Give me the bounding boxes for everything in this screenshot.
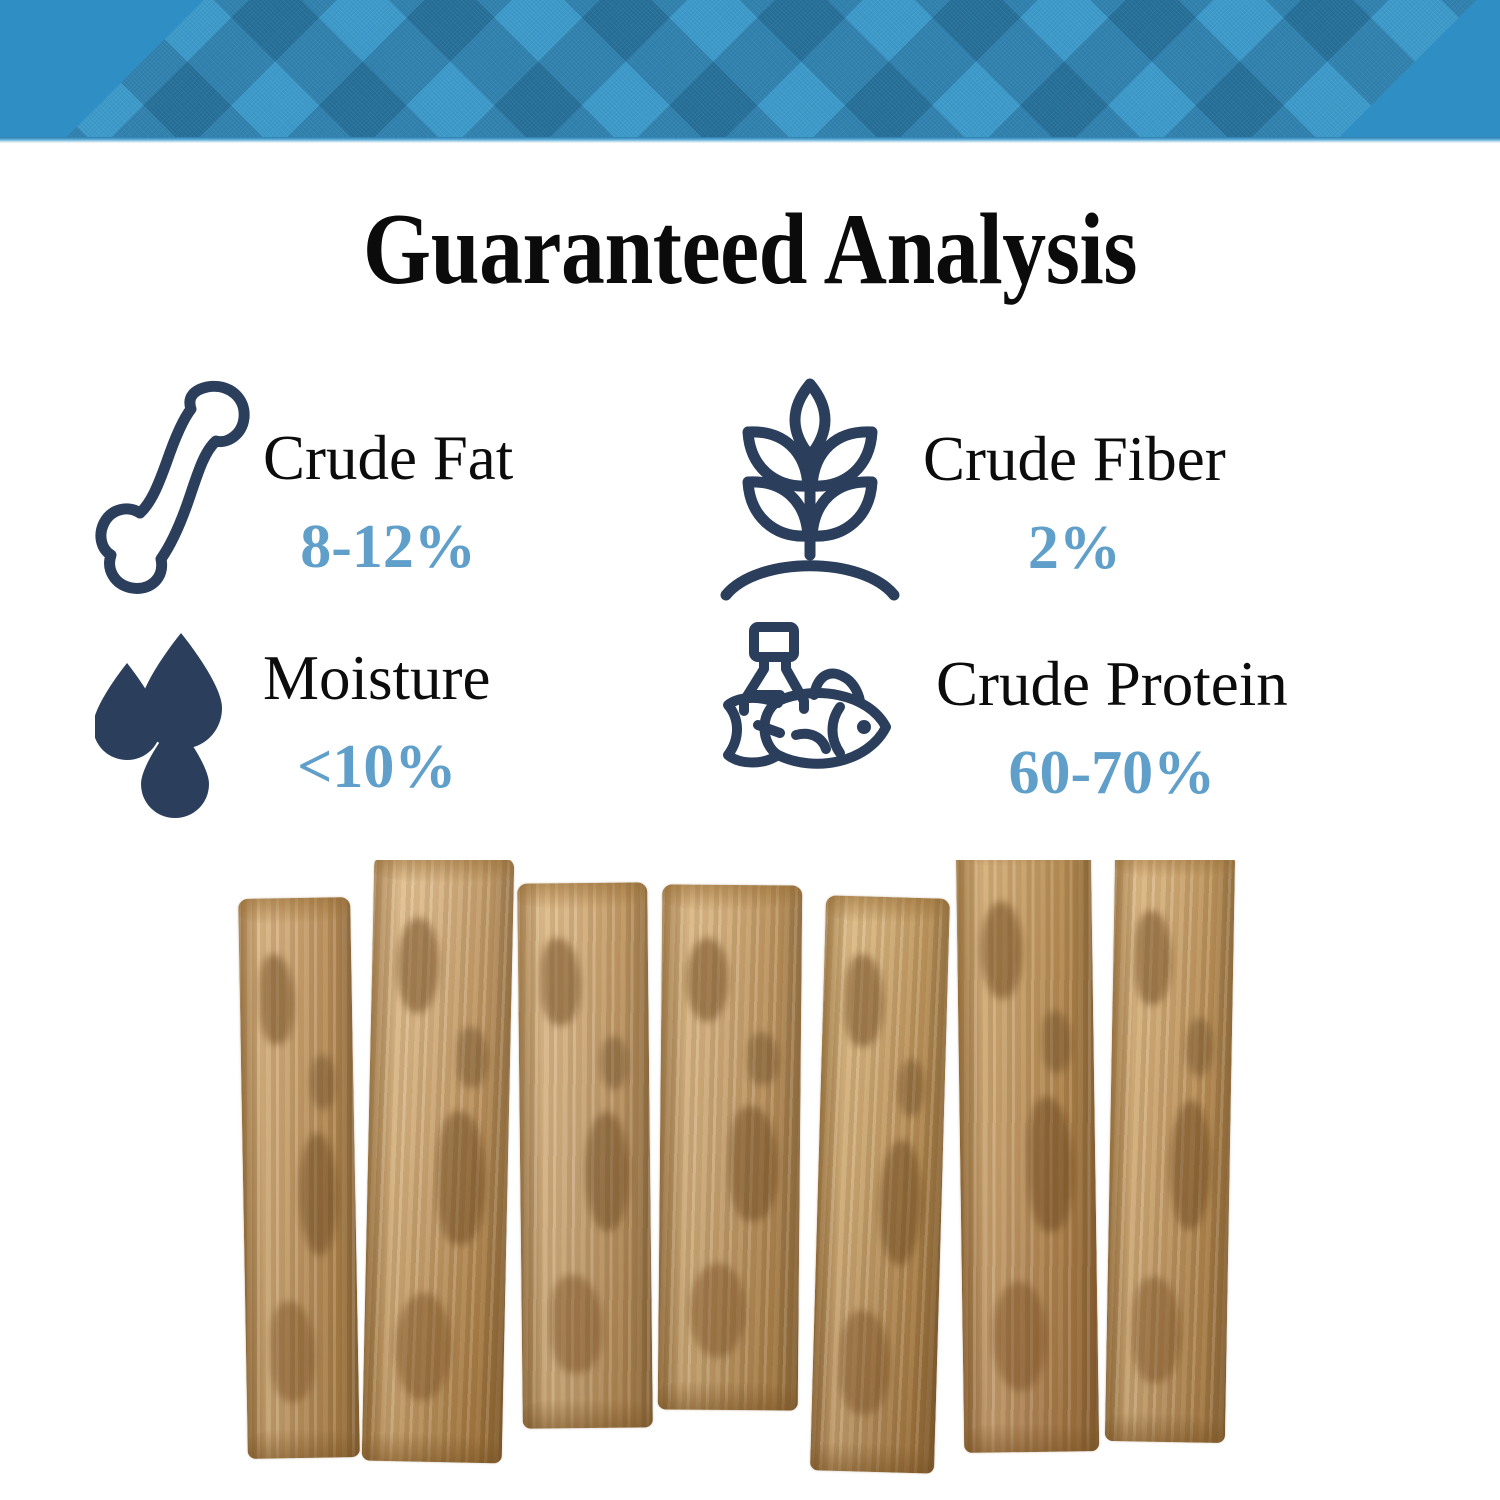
chew-stick-bottom-cap — [362, 1430, 503, 1463]
stat-crude-fat-value: 8-12% — [263, 516, 513, 578]
bone-icon — [95, 365, 255, 595]
chew-stick-marking — [747, 1032, 778, 1085]
stat-crude-fiber-label: Crude Fiber — [923, 428, 1226, 491]
stat-crude-protein-text: Crude Protein 60-70% — [936, 653, 1288, 804]
stat-crude-fat-text: Crude Fat 8-12% — [263, 427, 513, 578]
chew-stick — [362, 860, 515, 1463]
chew-stick-top-cap — [238, 897, 350, 925]
chew-stick-bottom-cap — [523, 1397, 653, 1428]
stat-moisture-label: Moisture — [263, 647, 490, 710]
chew-stick-bottom-cap — [247, 1427, 360, 1459]
stat-crude-fiber-value: 2% — [923, 517, 1226, 579]
wheat-plant-icon — [718, 370, 903, 605]
stat-crude-fat-label: Crude Fat — [263, 427, 513, 490]
stat-moisture-value: <10% — [263, 736, 490, 798]
page-title: Guaranteed Analysis — [105, 196, 1395, 303]
stat-crude-protein-value: 60-70% — [936, 742, 1288, 804]
stat-crude-fiber-text: Crude Fiber 2% — [923, 428, 1226, 579]
guaranteed-analysis-grid: Crude Fat 8-12% Cr — [0, 360, 1500, 830]
water-droplets-icon — [95, 625, 235, 820]
chew-stick-top-cap — [517, 882, 647, 909]
chew-stick — [238, 897, 360, 1459]
chew-stick-marking — [689, 1263, 746, 1358]
stat-moisture-text: Moisture <10% — [263, 647, 490, 798]
chew-stick-marking — [599, 1035, 628, 1090]
chew-stick-bottom-cap — [964, 1421, 1099, 1453]
chew-stick — [658, 884, 803, 1410]
fish-oil-bottle-icon — [718, 615, 918, 815]
chew-stick-marking — [981, 901, 1023, 999]
chew-stick-marking — [456, 1027, 488, 1088]
product-photo-chew-sticks — [0, 860, 1500, 1500]
chew-stick-bottom-cap — [1105, 1411, 1226, 1443]
chew-stick — [517, 882, 653, 1428]
chew-stick — [956, 860, 1100, 1453]
chew-stick-bottom-cap — [810, 1440, 935, 1473]
chew-stick — [810, 895, 950, 1473]
header-gingham-banner — [0, 0, 1500, 143]
chew-stick — [1105, 860, 1235, 1443]
chew-stick-bottom-cap — [658, 1379, 798, 1410]
stat-crude-protein-label: Crude Protein — [936, 653, 1288, 716]
gingham-pattern — [0, 0, 1500, 143]
fabric-thread-texture — [0, 0, 1500, 143]
header-bottom-edge — [0, 137, 1500, 143]
chew-stick-top-cap — [662, 884, 802, 911]
